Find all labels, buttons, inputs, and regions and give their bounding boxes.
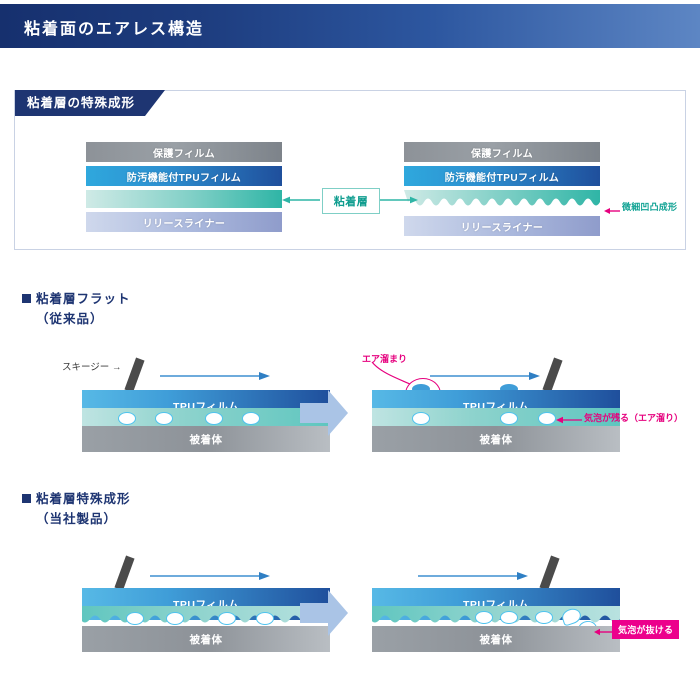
flow-arrow-icon (160, 368, 270, 386)
flow-arrow-icon (430, 368, 540, 386)
substrate-band: 被着体 (372, 426, 620, 452)
substrate-label: 被着体 (480, 432, 513, 447)
substrate-label: 被着体 (190, 432, 223, 447)
adhesive-layer-callout: 粘着層 (322, 188, 380, 214)
arrow-micro-annotation-icon (604, 203, 620, 221)
section-flat-subheading: （従来品） (36, 308, 104, 327)
section-textured-heading: 粘着層特殊成形 (22, 488, 131, 507)
substrate-label: 被着体 (480, 632, 513, 647)
air-bubble (412, 412, 430, 425)
air-bubble (205, 412, 223, 425)
squeegee-icon (114, 555, 134, 590)
flow-arrow-icon (418, 568, 528, 586)
air-bubble (126, 612, 144, 625)
layer-stack-left: 保護フィルム 防汚機能付TPUフィルム リリースライナー (86, 142, 282, 236)
flow-arrow-icon (150, 568, 270, 586)
air-bubble (218, 612, 236, 625)
layer-tpu-film: 防汚機能付TPUフィルム (404, 166, 600, 186)
layer-label: リリースライナー (461, 219, 544, 234)
bubble-escape-badge: 気泡が抜ける (612, 620, 679, 639)
section-flat-heading-label: 粘着層フラット (36, 292, 131, 306)
layer-label: 防汚機能付TPUフィルム (127, 169, 241, 184)
adhesive-band-textured (82, 606, 330, 628)
squeegee-label: スキージー → (62, 359, 121, 373)
micro-texture-label: 微細凹凸成形 (622, 200, 677, 213)
page-header: 粘着面のエアレス構造 (0, 4, 700, 48)
layer-tpu-film: 防汚機能付TPUフィルム (86, 166, 282, 186)
substrate-band: 被着体 (372, 626, 620, 652)
arrow-bubble-remain-icon (556, 412, 582, 430)
layer-label: 保護フィルム (471, 145, 533, 160)
arrow-left-teal-icon (282, 194, 320, 206)
layer-adhesive-textured (404, 190, 600, 212)
bubble-remain-label: 気泡が残る（エア溜り） (584, 411, 683, 424)
air-bubble (538, 412, 556, 425)
layer-label: リリースライナー (143, 215, 226, 230)
layer-label: 防汚機能付TPUフィルム (445, 169, 559, 184)
arrow-bubble-escape-icon (594, 624, 612, 642)
layer-release-liner: リリースライナー (86, 212, 282, 232)
air-bubble (242, 412, 260, 425)
squeegee-icon (542, 357, 562, 392)
substrate-band: 被着体 (82, 426, 330, 452)
substrate-label: 被着体 (190, 632, 223, 647)
section-flat-heading: 粘着層フラット (22, 288, 131, 307)
page-title: 粘着面のエアレス構造 (24, 15, 204, 39)
section-textured-heading-label: 粘着層特殊成形 (36, 492, 131, 506)
air-bubble (535, 611, 553, 624)
air-bubble (475, 611, 493, 624)
substrate-band: 被着体 (82, 626, 330, 652)
layer-adhesive-flat (86, 190, 282, 208)
squeegee-icon (539, 555, 559, 590)
layer-label: 保護フィルム (153, 145, 215, 160)
layer-protective-film: 保護フィルム (404, 142, 600, 162)
air-bubble (166, 612, 184, 625)
panel-tab-label: 粘着層の特殊成形 (15, 90, 165, 116)
adhesive-band-flat (372, 408, 620, 426)
squeegee-icon (124, 357, 144, 392)
air-bubble (118, 412, 136, 425)
bullet-square-icon (22, 494, 31, 503)
air-bubble (500, 412, 518, 425)
bullet-square-icon (22, 294, 31, 303)
air-bubble (256, 612, 274, 625)
process-arrow-icon (300, 390, 348, 441)
air-bubble (500, 611, 518, 624)
process-arrow-icon (300, 590, 348, 641)
air-bubble (155, 412, 173, 425)
layer-stack-right: 保護フィルム 防汚機能付TPUフィルム リリースライナー (404, 142, 600, 240)
arrow-right-teal-icon (380, 194, 418, 206)
section-textured-subheading: （当社製品） (36, 508, 117, 527)
adhesive-layer-callout-label: 粘着層 (334, 193, 369, 209)
layer-release-liner: リリースライナー (404, 216, 600, 236)
layer-protective-film: 保護フィルム (86, 142, 282, 162)
